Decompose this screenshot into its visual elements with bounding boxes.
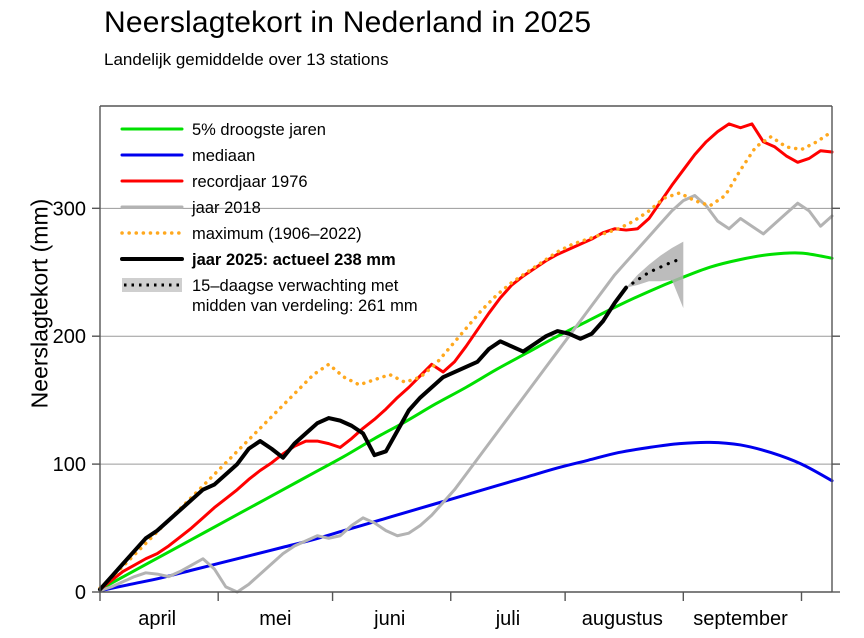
x-tick-label-augustus: augustus <box>582 608 663 630</box>
chart-plot-area: 0100200300aprilmeijunijuliaugustusseptem… <box>0 0 864 638</box>
legend-label-jaar-2018: jaar 2018 <box>191 199 261 217</box>
y-tick-label-300: 300 <box>53 198 86 220</box>
y-tick-label-100: 100 <box>53 454 86 476</box>
legend-label-maximum-1906-2022: maximum (1906–2022) <box>192 225 362 243</box>
legend-swatch-band-6 <box>122 278 182 292</box>
x-tick-label-juli: juli <box>495 608 520 630</box>
legend-label-forecast-line2: midden van verdeling: 261 mm <box>192 297 418 315</box>
x-tick-label-april: april <box>138 608 176 630</box>
precipitation-deficit-chart: Neerslagtekort in Nederland in 2025 Land… <box>0 0 864 638</box>
series-line-jaar-2025-actueel-238-mm <box>100 288 626 590</box>
x-tick-label-juni: juni <box>373 608 405 630</box>
legend-label-5-droogste-jaren: 5% droogste jaren <box>192 121 326 139</box>
x-tick-label-mei: mei <box>259 608 291 630</box>
y-tick-label-200: 200 <box>53 326 86 348</box>
y-tick-label-0: 0 <box>75 582 86 604</box>
legend-label-15-daagse-verwachting-met: 15–daagse verwachting met <box>192 277 399 295</box>
legend-label-recordjaar-1976: recordjaar 1976 <box>192 173 308 191</box>
series-line-recordjaar-1976 <box>100 124 832 590</box>
legend-label-mediaan: mediaan <box>192 147 255 165</box>
legend-label-jaar-2025-actueel-238-mm: jaar 2025: actueel 238 mm <box>191 251 396 269</box>
x-tick-label-september: september <box>693 608 788 630</box>
